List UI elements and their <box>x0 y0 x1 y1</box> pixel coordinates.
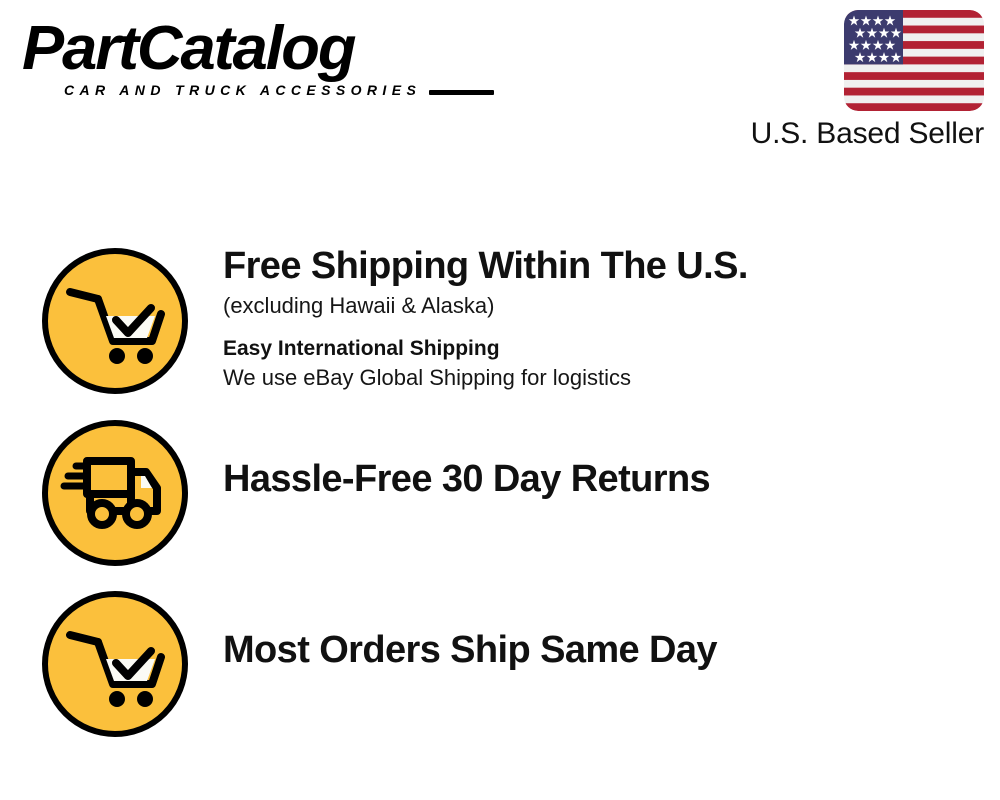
brand-tagline-row: CAR AND TRUCK ACCESSORIES <box>64 82 494 98</box>
feature-subtitle: (excluding Hawaii & Alaska) <box>223 292 748 321</box>
feature-title: Most Orders Ship Same Day <box>223 630 717 671</box>
feature-text: Most Orders Ship Same Day <box>223 589 717 671</box>
brand-tagline: CAR AND TRUCK ACCESSORIES <box>64 82 421 98</box>
feature-row: Most Orders Ship Same Day <box>40 589 717 739</box>
brand-tagline-rule <box>429 90 494 95</box>
feature-title: Hassle-Free 30 Day Returns <box>223 459 710 500</box>
delivery-truck-icon <box>40 418 190 568</box>
feature-text: Free Shipping Within The U.S. (excluding… <box>223 246 748 393</box>
feature-secondary-note: We use eBay Global Shipping for logistic… <box>223 364 748 393</box>
feature-title: Free Shipping Within The U.S. <box>223 246 748 287</box>
feature-row: Free Shipping Within The U.S. (excluding… <box>40 246 748 396</box>
feature-text: Hassle-Free 30 Day Returns <box>223 418 710 500</box>
feature-secondary-title: Easy International Shipping <box>223 335 748 362</box>
feature-row: Hassle-Free 30 Day Returns <box>40 418 710 568</box>
brand-wordmark: PartCatalog <box>22 18 501 80</box>
shopping-cart-check-icon <box>40 246 190 396</box>
brand-logo: PartCatalog CAR AND TRUCK ACCESSORIES <box>22 18 492 118</box>
seller-label: U.S. Based Seller <box>751 117 984 151</box>
us-flag-icon <box>844 10 984 111</box>
shopping-cart-check-icon <box>40 589 190 739</box>
shipping-info-banner: PartCatalog CAR AND TRUCK ACCESSORIES <box>0 0 1000 800</box>
seller-badge: U.S. Based Seller <box>712 10 984 151</box>
